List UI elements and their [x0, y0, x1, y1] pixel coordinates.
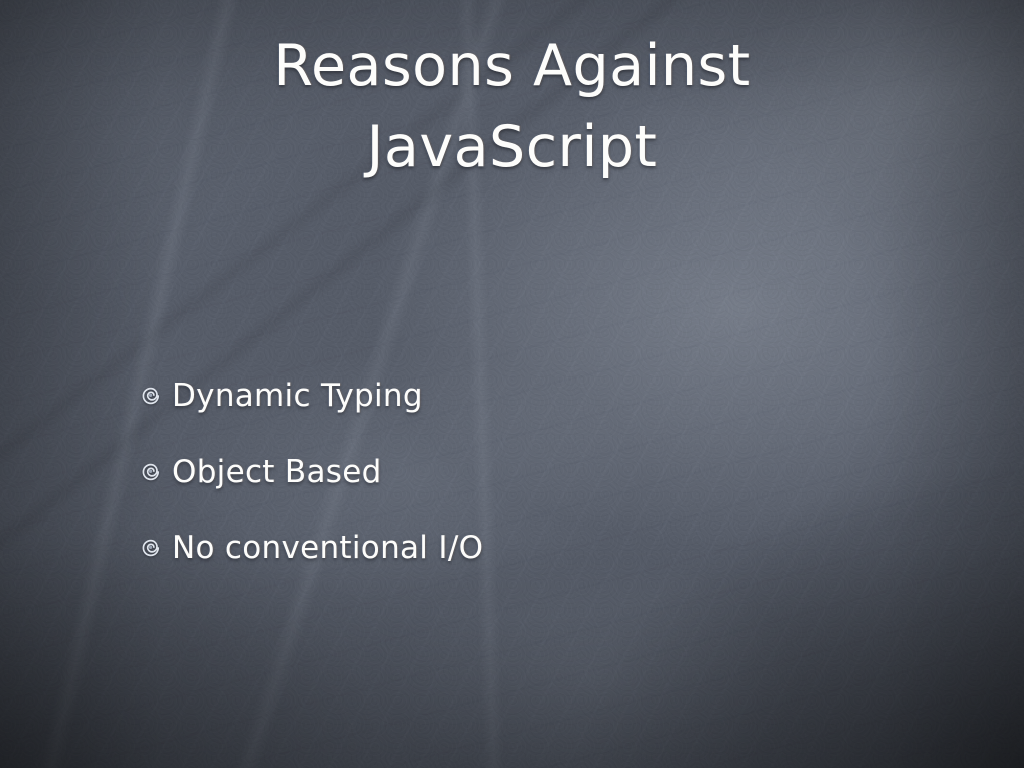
- presentation-slide: Reasons Against JavaScript Dynamic Typin…: [0, 0, 1024, 768]
- list-item: Object Based: [140, 434, 920, 510]
- list-item-label: Object Based: [172, 457, 382, 488]
- list-item: No conventional I/O: [140, 510, 920, 586]
- spiral-bullet-icon: [140, 461, 162, 483]
- bullet-list: Dynamic Typing Object Based: [140, 358, 920, 586]
- list-item: Dynamic Typing: [140, 358, 920, 434]
- spiral-bullet-icon: [140, 537, 162, 559]
- list-item-label: No conventional I/O: [172, 533, 483, 564]
- slide-title: Reasons Against JavaScript: [0, 26, 1024, 188]
- slide-content: Reasons Against JavaScript Dynamic Typin…: [0, 0, 1024, 768]
- list-item-label: Dynamic Typing: [172, 381, 423, 412]
- spiral-bullet-icon: [140, 385, 162, 407]
